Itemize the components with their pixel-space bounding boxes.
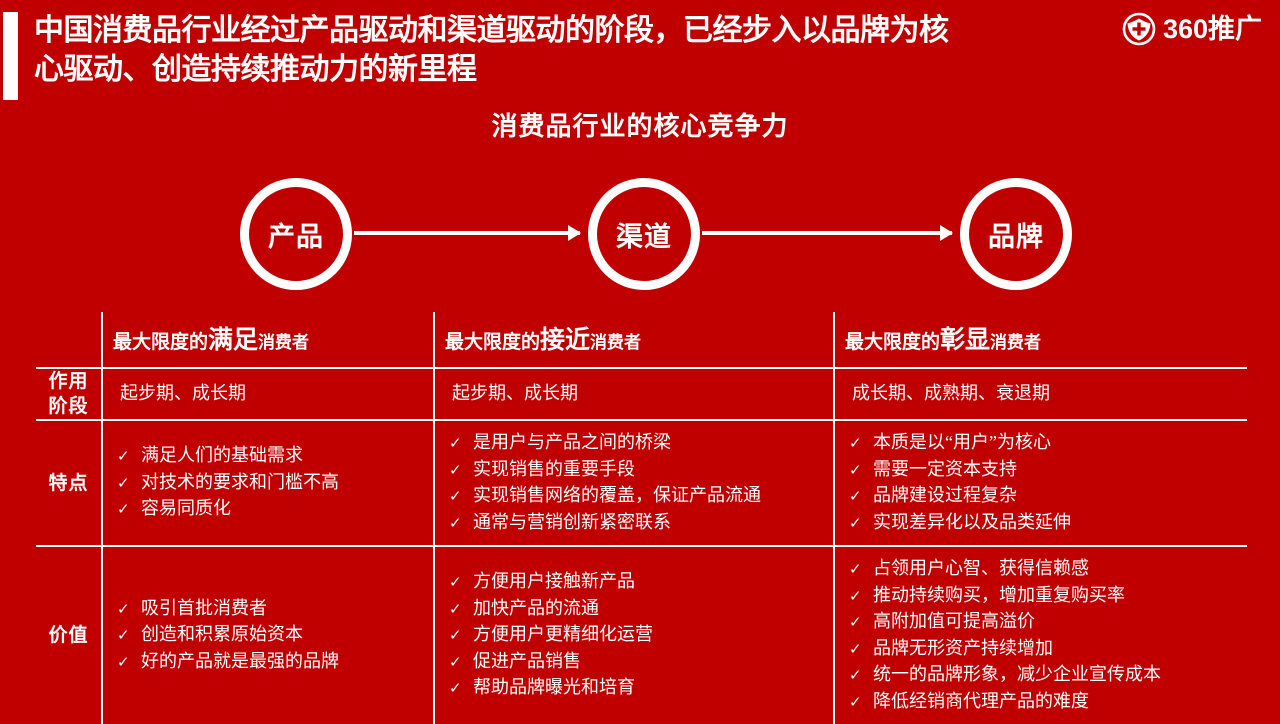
row-label-features: 特点 (36, 420, 102, 546)
list-item: ✓统一的品牌形象，减少企业宣传成本 (849, 662, 1239, 689)
cell-features-channel: ✓是用户与产品之间的桥梁✓实现销售的重要手段✓实现销售网络的覆盖，保证产品流通✓… (434, 420, 834, 546)
check-icon: ✓ (449, 484, 473, 510)
list-item: ✓是用户与产品之间的桥梁 (449, 430, 825, 457)
flow-node-label: 渠道 (616, 215, 672, 254)
list-item-label: 高附加值可提高溢价 (873, 609, 1035, 635)
list-item-label: 对技术的要求和门槛不高 (141, 470, 339, 496)
column-header-suffix: 消费者 (258, 333, 309, 352)
bullet-list: ✓占领用户心智、获得信赖感✓推动持续购买，增加重复购买率✓高附加值可提高溢价✓品… (849, 556, 1239, 715)
column-header-emphasis: 彰显 (940, 326, 990, 354)
list-item: ✓满足人们的基础需求 (117, 443, 425, 470)
bullet-list: ✓吸引首批消费者✓创造和积累原始资本✓好的产品就是最强的品牌 (117, 596, 425, 676)
check-icon: ✓ (849, 557, 873, 583)
bullet-list: ✓本质是以“用户”为核心✓需要一定资本支持✓品牌建设过程复杂✓实现差异化以及品类… (849, 430, 1239, 536)
check-icon: ✓ (449, 570, 473, 596)
list-item: ✓推动持续购买，增加重复购买率 (849, 583, 1239, 610)
shield-plus-icon (1122, 12, 1156, 46)
competitiveness-matrix: 最大限度的满足消费者 最大限度的接近消费者 最大限度的彰显消费者 作用 阶段 起… (36, 312, 1247, 724)
table-row: 价值 ✓吸引首批消费者✓创造和积累原始资本✓好的产品就是最强的品牌 ✓方便用户接… (36, 546, 1247, 724)
column-header-prefix: 最大限度的 (845, 332, 940, 353)
list-item: ✓降低经销商代理产品的难度 (849, 689, 1239, 716)
page-header: 中国消费品行业经过产品驱动和渠道驱动的阶段，已经步入以品牌为核 心驱动、创造持续… (0, 0, 1280, 100)
list-item: ✓实现销售的重要手段 (449, 457, 825, 484)
list-item-label: 吸引首批消费者 (141, 596, 267, 622)
list-item-label: 促进产品销售 (473, 649, 581, 675)
list-item: ✓需要一定资本支持 (849, 457, 1239, 484)
cell-stage-product: 起步期、成长期 (102, 368, 434, 420)
bullet-list: ✓方便用户接触新产品✓加快产品的流通✓方便用户更精细化运营✓促进产品销售✓帮助品… (449, 569, 825, 702)
list-item-label: 品牌建设过程复杂 (873, 483, 1017, 509)
check-icon: ✓ (117, 650, 141, 676)
list-item: ✓容易同质化 (117, 496, 425, 523)
flow-node-channel: 渠道 (588, 178, 700, 290)
list-item: ✓品牌无形资产持续增加 (849, 636, 1239, 663)
check-icon: ✓ (449, 458, 473, 484)
list-item-label: 本质是以“用户”为核心 (873, 430, 1051, 456)
check-icon: ✓ (449, 623, 473, 649)
list-item: ✓帮助品牌曝光和培育 (449, 675, 825, 702)
list-item-label: 容易同质化 (141, 496, 231, 522)
list-item-label: 占领用户心智、获得信赖感 (873, 556, 1089, 582)
row-label-stage: 作用 阶段 (36, 368, 102, 420)
list-item-label: 品牌无形资产持续增加 (873, 636, 1053, 662)
list-item: ✓方便用户更精细化运营 (449, 622, 825, 649)
column-header-suffix: 消费者 (990, 333, 1041, 352)
check-icon: ✓ (849, 458, 873, 484)
list-item: ✓通常与营销创新紧密联系 (449, 510, 825, 537)
list-item-label: 创造和积累原始资本 (141, 622, 303, 648)
list-item-label: 推动持续购买，增加重复购买率 (873, 583, 1125, 609)
check-icon: ✓ (117, 471, 141, 497)
list-item: ✓好的产品就是最强的品牌 (117, 649, 425, 676)
list-item-label: 加快产品的流通 (473, 596, 599, 622)
check-icon: ✓ (117, 497, 141, 523)
list-item: ✓实现差异化以及品类延伸 (849, 510, 1239, 537)
row-label-line-1: 作用 (36, 369, 101, 394)
column-header-emphasis: 满足 (208, 326, 258, 354)
check-icon: ✓ (117, 597, 141, 623)
flow-node-label: 品牌 (988, 215, 1044, 254)
list-item: ✓促进产品销售 (449, 649, 825, 676)
list-item: ✓加快产品的流通 (449, 596, 825, 623)
check-icon: ✓ (449, 431, 473, 457)
check-icon: ✓ (849, 584, 873, 610)
list-item-label: 统一的品牌形象，减少企业宣传成本 (873, 662, 1161, 688)
list-item: ✓高附加值可提高溢价 (849, 609, 1239, 636)
column-header-prefix: 最大限度的 (113, 332, 208, 353)
list-item-label: 方便用户更精细化运营 (473, 622, 653, 648)
list-item-label: 通常与营销创新紧密联系 (473, 510, 671, 536)
list-item: ✓占领用户心智、获得信赖感 (849, 556, 1239, 583)
arrow-right-icon (702, 231, 952, 235)
table-corner-cell (36, 312, 102, 368)
arrow-right-icon (354, 231, 580, 235)
page-title-line-2: 心驱动、创造持续推动力的新里程 (34, 50, 1074, 89)
column-header-emphasis: 接近 (540, 326, 590, 354)
list-item: ✓对技术的要求和门槛不高 (117, 470, 425, 497)
column-header-suffix: 消费者 (590, 333, 641, 352)
list-item-label: 需要一定资本支持 (873, 457, 1017, 483)
page-title: 中国消费品行业经过产品驱动和渠道驱动的阶段，已经步入以品牌为核 心驱动、创造持续… (34, 11, 1074, 89)
header-accent-bar (3, 12, 18, 100)
flow-node-brand: 品牌 (960, 178, 1072, 290)
cell-value-channel: ✓方便用户接触新产品✓加快产品的流通✓方便用户更精细化运营✓促进产品销售✓帮助品… (434, 546, 834, 724)
list-item: ✓实现销售网络的覆盖，保证产品流通 (449, 483, 825, 510)
cell-value-brand: ✓占领用户心智、获得信赖感✓推动持续购买，增加重复购买率✓高附加值可提高溢价✓品… (834, 546, 1247, 724)
check-icon: ✓ (849, 637, 873, 663)
check-icon: ✓ (849, 511, 873, 537)
stage-flow-diagram: 产品 渠道 品牌 (0, 178, 1280, 296)
list-item-label: 实现差异化以及品类延伸 (873, 510, 1071, 536)
check-icon: ✓ (117, 444, 141, 470)
list-item-label: 实现销售的重要手段 (473, 457, 635, 483)
check-icon: ✓ (849, 610, 873, 636)
bullet-list: ✓满足人们的基础需求✓对技术的要求和门槛不高✓容易同质化 (117, 443, 425, 523)
row-label-value: 价值 (36, 546, 102, 724)
table-row: 作用 阶段 起步期、成长期 起步期、成长期 成长期、成熟期、衰退期 (36, 368, 1247, 420)
cell-features-brand: ✓本质是以“用户”为核心✓需要一定资本支持✓品牌建设过程复杂✓实现差异化以及品类… (834, 420, 1247, 546)
list-item: ✓本质是以“用户”为核心 (849, 430, 1239, 457)
column-header-product: 最大限度的满足消费者 (102, 312, 434, 368)
brand-logo: 360推广 (1122, 12, 1262, 46)
row-label-line-2: 阶段 (36, 394, 101, 419)
bullet-list: ✓是用户与产品之间的桥梁✓实现销售的重要手段✓实现销售网络的覆盖，保证产品流通✓… (449, 430, 825, 536)
flow-node-label: 产品 (268, 215, 324, 254)
list-item-label: 满足人们的基础需求 (141, 443, 303, 469)
cell-features-product: ✓满足人们的基础需求✓对技术的要求和门槛不高✓容易同质化 (102, 420, 434, 546)
column-header-channel: 最大限度的接近消费者 (434, 312, 834, 368)
column-header-brand: 最大限度的彰显消费者 (834, 312, 1247, 368)
list-item: ✓方便用户接触新产品 (449, 569, 825, 596)
list-item: ✓品牌建设过程复杂 (849, 483, 1239, 510)
list-item: ✓吸引首批消费者 (117, 596, 425, 623)
brand-logo-text: 360推广 (1163, 14, 1262, 44)
check-icon: ✓ (449, 597, 473, 623)
page-title-line-1: 中国消费品行业经过产品驱动和渠道驱动的阶段，已经步入以品牌为核 (34, 11, 1074, 50)
check-icon: ✓ (849, 484, 873, 510)
list-item-label: 降低经销商代理产品的难度 (873, 689, 1089, 715)
table-row: 特点 ✓满足人们的基础需求✓对技术的要求和门槛不高✓容易同质化 ✓是用户与产品之… (36, 420, 1247, 546)
cell-stage-channel: 起步期、成长期 (434, 368, 834, 420)
column-header-prefix: 最大限度的 (445, 332, 540, 353)
list-item-label: 好的产品就是最强的品牌 (141, 649, 339, 675)
cell-value-product: ✓吸引首批消费者✓创造和积累原始资本✓好的产品就是最强的品牌 (102, 546, 434, 724)
list-item-label: 方便用户接触新产品 (473, 569, 635, 595)
check-icon: ✓ (449, 676, 473, 702)
section-subtitle: 消费品行业的核心竞争力 (0, 106, 1280, 143)
table-header-row: 最大限度的满足消费者 最大限度的接近消费者 最大限度的彰显消费者 (36, 312, 1247, 368)
cell-stage-brand: 成长期、成熟期、衰退期 (834, 368, 1247, 420)
check-icon: ✓ (849, 690, 873, 716)
flow-node-product: 产品 (240, 178, 352, 290)
list-item-label: 帮助品牌曝光和培育 (473, 675, 635, 701)
list-item: ✓创造和积累原始资本 (117, 622, 425, 649)
check-icon: ✓ (449, 511, 473, 537)
list-item-label: 是用户与产品之间的桥梁 (473, 430, 671, 456)
list-item-label: 实现销售网络的覆盖，保证产品流通 (473, 483, 761, 509)
check-icon: ✓ (449, 650, 473, 676)
check-icon: ✓ (849, 663, 873, 689)
check-icon: ✓ (117, 623, 141, 649)
check-icon: ✓ (849, 431, 873, 457)
